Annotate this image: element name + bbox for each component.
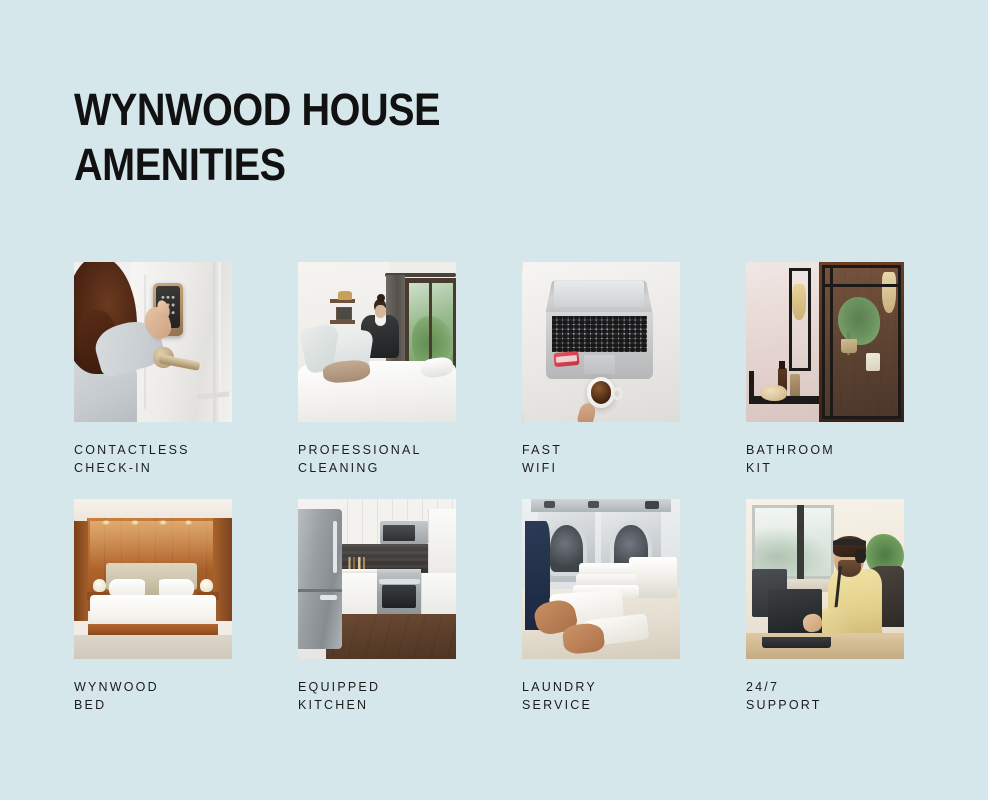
amenity-label-fast-wifi: FAST WIFI: [522, 441, 680, 477]
amenity-card-24-7-support[interactable]: 24/7 SUPPORT: [746, 499, 904, 714]
amenities-row-2: WYNWOOD BED: [74, 499, 904, 714]
amenities-grid: CONTACTLESS CHECK-IN: [74, 262, 904, 736]
amenity-card-contactless-check-in[interactable]: CONTACTLESS CHECK-IN: [74, 262, 232, 477]
amenity-card-equipped-kitchen[interactable]: EQUIPPED KITCHEN: [298, 499, 456, 714]
amenity-image-24-7-support: [746, 499, 904, 659]
amenity-label-line-2: KITCHEN: [298, 696, 456, 714]
amenity-label-line-1: WYNWOOD: [74, 678, 232, 696]
amenity-label-contactless-check-in: CONTACTLESS CHECK-IN: [74, 441, 232, 477]
amenity-label-professional-cleaning: PROFESSIONAL CLEANING: [298, 441, 456, 477]
amenity-image-fast-wifi: [522, 262, 680, 422]
amenity-label-laundry-service: LAUNDRY SERVICE: [522, 678, 680, 714]
amenity-label-line-1: 24/7: [746, 678, 904, 696]
amenity-image-wynwood-bed: [74, 499, 232, 659]
page-title: WYNWOOD HOUSE AMENITIES: [74, 82, 714, 192]
amenity-label-line-2: KIT: [746, 459, 904, 477]
amenity-card-wynwood-bed[interactable]: WYNWOOD BED: [74, 499, 232, 714]
amenity-label-line-2: CLEANING: [298, 459, 456, 477]
amenity-label-line-1: CONTACTLESS: [74, 441, 232, 459]
amenity-label-line-2: CHECK-IN: [74, 459, 232, 477]
amenity-image-bathroom-kit: [746, 262, 904, 422]
slide-canvas: WYNWOOD HOUSE AMENITIES: [0, 0, 988, 800]
amenity-card-fast-wifi[interactable]: FAST WIFI: [522, 262, 680, 477]
amenity-label-line-2: SERVICE: [522, 696, 680, 714]
amenity-label-line-1: BATHROOM: [746, 441, 904, 459]
amenity-card-laundry-service[interactable]: LAUNDRY SERVICE: [522, 499, 680, 714]
amenity-image-professional-cleaning: [298, 262, 456, 422]
amenity-label-line-2: BED: [74, 696, 232, 714]
amenity-label-line-1: EQUIPPED: [298, 678, 456, 696]
amenity-image-contactless-check-in: [74, 262, 232, 422]
page-title-line-2: AMENITIES: [74, 137, 637, 192]
amenity-label-wynwood-bed: WYNWOOD BED: [74, 678, 232, 714]
amenity-card-professional-cleaning[interactable]: PROFESSIONAL CLEANING: [298, 262, 456, 477]
amenity-label-line-2: SUPPORT: [746, 696, 904, 714]
amenity-card-bathroom-kit[interactable]: BATHROOM KIT: [746, 262, 904, 477]
amenity-label-bathroom-kit: BATHROOM KIT: [746, 441, 904, 477]
amenities-row-1: CONTACTLESS CHECK-IN: [74, 262, 904, 477]
amenity-label-line-1: FAST: [522, 441, 680, 459]
page-title-line-1: WYNWOOD HOUSE: [74, 82, 637, 137]
amenity-image-laundry-service: [522, 499, 680, 659]
amenity-label-24-7-support: 24/7 SUPPORT: [746, 678, 904, 714]
amenity-label-line-1: LAUNDRY: [522, 678, 680, 696]
amenity-label-line-1: PROFESSIONAL: [298, 441, 456, 459]
amenity-label-equipped-kitchen: EQUIPPED KITCHEN: [298, 678, 456, 714]
amenity-label-line-2: WIFI: [522, 459, 680, 477]
amenity-image-equipped-kitchen: [298, 499, 456, 659]
